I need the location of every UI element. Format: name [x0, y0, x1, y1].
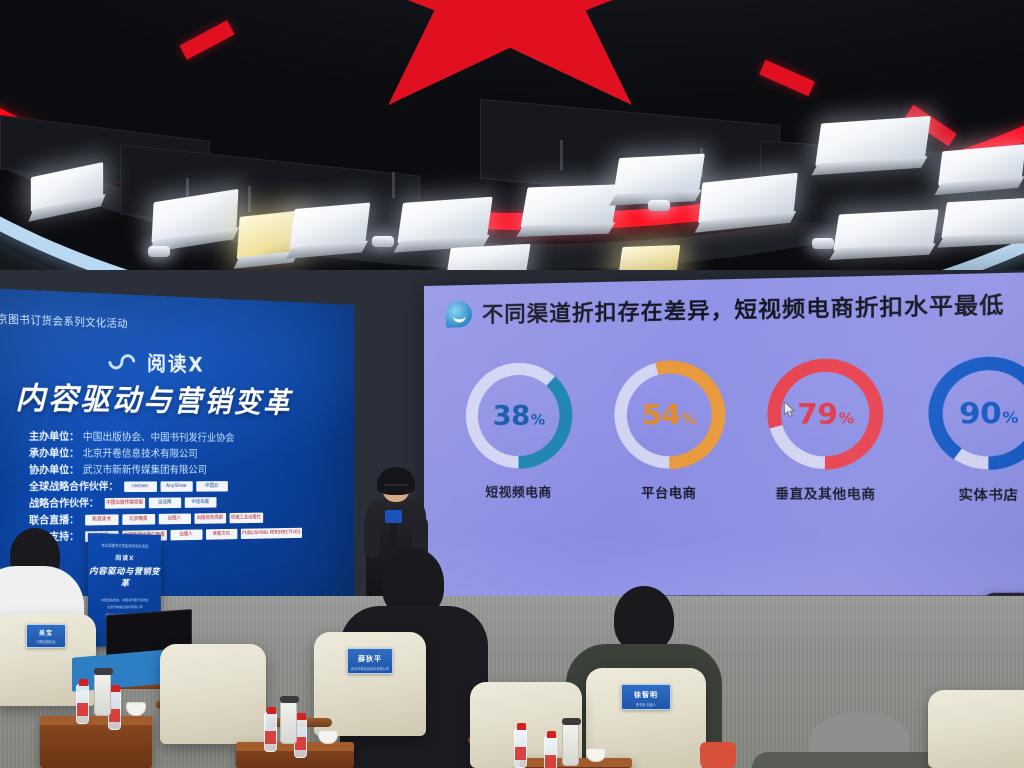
donut-label: 实体书店: [913, 483, 1024, 504]
percent-sign: %: [839, 410, 854, 427]
banner-title: 内容驱动与营销变革: [15, 373, 336, 422]
audience-head: [614, 586, 674, 652]
partner-logo-chip: AnyShow: [160, 481, 192, 492]
donut-ring: 90%: [929, 357, 1024, 470]
banner-credits: 主办单位： 中国出版协会、中国书刊发行业协会 承办单位： 北京开卷信息技术有限公…: [29, 428, 340, 546]
banner-credit-line: 主办单位： 中国出版协会、中国书刊发行业协会: [29, 428, 340, 447]
credit-label: 联合直播：: [29, 512, 79, 529]
partner-logo-chip: 中国云: [196, 481, 228, 492]
ceiling-spotlight: [372, 236, 394, 247]
water-bottle: [514, 728, 527, 768]
donut-value: 90: [959, 397, 1001, 431]
banner-logo-text: 阅读X: [147, 348, 204, 378]
donut-value: 38: [493, 400, 530, 432]
credit-label: 全球战略合作伙伴：: [29, 479, 118, 496]
partner-logo-chip: nielsen: [124, 481, 157, 492]
media-logo-row: 新浪读书 北京晚报 出版人 出版商务周报 机械工业出版社: [85, 513, 263, 526]
credit-label: 战略合作伙伴：: [29, 495, 99, 512]
presenter-arm-left: [364, 516, 380, 558]
media-logo-chip: 北京晚报: [122, 514, 155, 525]
light-rod: [560, 140, 563, 170]
presenter-glasses-icon: [384, 484, 408, 490]
banner-credit-line: 协办单位： 武汉市新新传媒集团有限公司: [29, 462, 340, 479]
kaijuan-wave-logo-icon: [446, 301, 472, 328]
credit-label: 承办单位：: [29, 445, 79, 462]
slide-title: 不同渠道折扣存在差异，短视频电商折扣水平最低: [482, 288, 1005, 329]
red-object: [700, 742, 736, 768]
screenshot-stage: 年北京图书订货会系列文化活动 阅读X 内容驱动与营销变革 主办单位： 中国出版协…: [0, 0, 1024, 768]
audience-shoulders: [752, 752, 942, 768]
studio-light-panel: [833, 209, 939, 251]
media-logo-chip: 出版商务周报: [194, 513, 226, 524]
led-presentation-screen: 不同渠道折扣存在差异，短视频电商折扣水平最低 38% 短视频电商: [424, 271, 1024, 631]
credit-label: 协办单位：: [29, 462, 79, 479]
studio-light-panel: [941, 197, 1024, 238]
studio-light-panel: [938, 144, 1024, 186]
donut-chart-short-video: 38% 短视频电商: [452, 362, 586, 501]
chair-nameplate: 徐智明 快书包 创始人: [621, 684, 671, 710]
donut-chart-group: 38% 短视频电商 54%: [452, 356, 1024, 504]
water-bottle: [264, 712, 277, 752]
credit-value: 中国出版协会、中国书刊发行业协会: [83, 429, 235, 446]
studio-light-panel: [520, 184, 619, 227]
side-table: [40, 716, 152, 768]
donut-chart-physical-store: 90% 实体书店: [913, 356, 1024, 504]
thermos-flask: [562, 722, 579, 766]
media-logo-chip: 新浪读书: [85, 514, 118, 525]
credit-label: 主办单位：: [29, 428, 79, 445]
partner-logo-chip: 中国出版传媒商报: [104, 498, 144, 509]
donut-chart-platform: 54% 平台电商: [599, 360, 739, 502]
water-bottle: [544, 736, 557, 768]
media-logo-chip: 读客文化: [206, 529, 237, 540]
nameplate-name: 吴宝: [27, 629, 65, 638]
banner-credit-line: 承办单位： 北京开卷信息技术有限公司: [29, 445, 340, 462]
studio-ceiling: [0, 0, 1024, 300]
banner-credit-line: 媒体支持： 新京报 中国新闻出版广电报 出版人 读客文化 PUBLISHING …: [29, 524, 340, 546]
nameplate-name: 薛狄平: [348, 654, 392, 664]
chair-nameplate: 吴宝 中国出版协会: [26, 624, 66, 648]
ceiling-spotlight: [648, 200, 670, 211]
percent-sign: %: [531, 412, 545, 428]
donut-value: 79: [797, 398, 837, 431]
ceiling-spotlight: [148, 246, 170, 257]
credit-value: 北京开卷信息技术有限公司: [83, 446, 198, 463]
studio-light-panel: [397, 197, 492, 244]
media-logo-chip: 出版人: [158, 513, 190, 524]
donut-ring: 79%: [768, 359, 883, 470]
water-bottle: [76, 684, 89, 724]
nameplate-org: 快书包 创始人: [622, 700, 670, 710]
partner-logo-chip: 当当网: [148, 497, 180, 508]
audience-chair: [928, 690, 1024, 768]
nameplate-org: 中国出版协会: [27, 638, 65, 647]
donut-value: 54: [642, 399, 681, 431]
desk-sign-title: 内容驱动与营销变革: [88, 565, 161, 589]
donut-center: 54%: [627, 373, 712, 456]
donut-ring: 38%: [466, 362, 572, 468]
donut-ring: 54%: [614, 360, 724, 468]
arrow-cursor-icon: [784, 402, 796, 418]
media-logo-chip: 机械工业出版社: [229, 513, 263, 524]
partner-logo-row: nielsen AnyShow 中国云: [124, 481, 228, 492]
donut-label: 垂直及其他电商: [753, 482, 899, 503]
studio-light-panel: [290, 202, 371, 249]
percent-sign: %: [1002, 409, 1018, 426]
media-logo-chip: 出版人: [170, 529, 202, 540]
media-logo-chip: PUBLISHING PERSPECTIVES: [240, 528, 302, 539]
desk-sign-logo: 阅读X: [88, 552, 161, 562]
microphone-flag: [385, 510, 402, 523]
ceiling-spotlight: [812, 238, 834, 249]
table-top: [40, 716, 152, 725]
thermos-flask: [280, 700, 297, 744]
donut-chart-vertical: 79% 垂直及其他电商: [753, 358, 899, 503]
slide-header: 不同渠道折扣存在差异，短视频电商折扣水平最低: [446, 287, 1024, 330]
donut-label: 短视频电商: [452, 481, 586, 501]
banner-logo: 阅读X: [108, 347, 204, 378]
percent-sign: %: [682, 411, 696, 428]
donut-center: 90%: [943, 370, 1024, 457]
thermos-flask: [94, 672, 111, 716]
donut-center: 38%: [478, 375, 559, 456]
credit-value: 武汉市新新传媒集团有限公司: [83, 462, 207, 479]
light-rod: [392, 172, 395, 198]
nameplate-name: 徐智明: [622, 690, 670, 700]
partner-logo-row: 中国出版传媒商报 当当网 中信出版: [104, 497, 216, 509]
partner-logo-chip: 中信出版: [184, 497, 216, 508]
audience-chair: [160, 644, 266, 744]
light-rod: [248, 186, 251, 212]
reading-x-logo-icon: [108, 353, 139, 370]
nameplate-org: 北京开卷信息技术有限公司: [348, 664, 392, 674]
donut-label: 平台电商: [599, 482, 739, 502]
desk-sign-series: 年北京图书订货会系列文化活动: [88, 542, 161, 548]
studio-light-panel: [613, 154, 705, 197]
chair-nameplate: 薛狄平 北京开卷信息技术有限公司: [347, 648, 393, 674]
studio-light-panel: [815, 116, 931, 166]
